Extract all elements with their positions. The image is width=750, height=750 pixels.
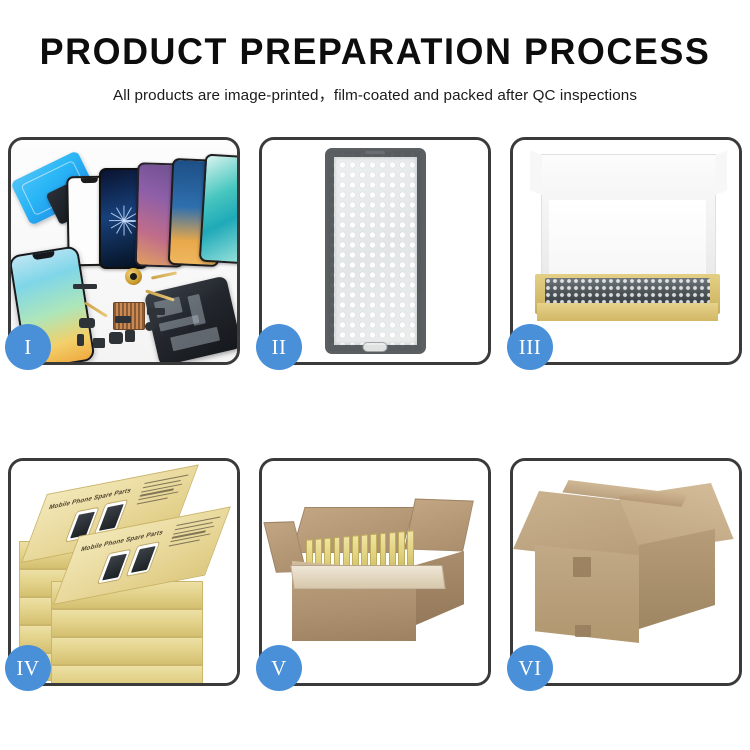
part-icon <box>125 330 135 342</box>
part-icon <box>93 338 105 348</box>
step-badge-3: III <box>507 324 553 370</box>
part-icon <box>115 316 131 323</box>
crack-lines-icon <box>109 205 139 235</box>
step-badge-1: I <box>5 324 51 370</box>
bubble-wrap-icon <box>329 151 422 351</box>
process-step-panel-3: III <box>510 137 742 365</box>
box-stack-group: Mobile Phone Spare Parts Mobile Phone Sp… <box>17 485 233 677</box>
sealed-carton-illustration <box>513 461 739 683</box>
box-spec-lines <box>167 516 220 549</box>
flex-cable-icon <box>84 301 108 317</box>
process-step-panel-1: I <box>8 137 240 365</box>
coil-icon <box>125 268 142 285</box>
process-step-panel-2: II <box>259 137 491 365</box>
box-phone-graphic <box>97 549 132 585</box>
flex-cable-icon <box>145 289 174 301</box>
part-icon <box>145 322 154 331</box>
box-spec-lines <box>135 474 188 507</box>
step-badge-2: II <box>256 324 302 370</box>
wrapped-screen-icon <box>545 278 710 303</box>
kraft-box-edge <box>51 637 203 665</box>
bubble-wrapped-screen-illustration <box>262 140 488 362</box>
part-icon <box>79 318 95 328</box>
step-badge-4: IV <box>5 645 51 691</box>
tape-tab-icon <box>575 625 591 637</box>
open-carton-illustration <box>262 461 488 683</box>
carton-flap-front <box>290 565 445 589</box>
carton-flap-right <box>404 499 474 552</box>
part-icon <box>77 334 84 346</box>
foam-box-illustration <box>513 140 739 362</box>
process-step-panel-5: V <box>259 458 491 686</box>
part-icon <box>73 284 97 289</box>
process-step-panel-4: Mobile Phone Spare Parts Mobile Phone Sp… <box>8 458 240 686</box>
home-button-icon <box>363 342 388 352</box>
process-step-panel-6: VI <box>510 458 742 686</box>
stacked-boxes-illustration: Mobile Phone Spare Parts Mobile Phone Sp… <box>11 461 237 683</box>
kraft-box-edge <box>51 609 203 637</box>
phone-parts-illustration <box>11 140 237 362</box>
process-step-grid: I II III <box>8 137 742 686</box>
teal-wave-phone-icon <box>199 154 237 265</box>
kraft-tray-front-icon <box>537 303 718 321</box>
earpiece-icon <box>365 151 385 154</box>
tape-tab-icon <box>573 557 591 577</box>
carton-side-face <box>639 529 715 629</box>
foam-lining-icon <box>549 200 706 278</box>
header: PRODUCT PREPARATION PROCESS All products… <box>0 0 750 105</box>
box-phone-graphic <box>126 541 161 577</box>
small-components-group <box>73 268 193 362</box>
flex-cable-icon <box>151 271 177 279</box>
step-badge-6: VI <box>507 645 553 691</box>
page-subtitle: All products are image-printed，film-coat… <box>0 83 750 105</box>
page-title: PRODUCT PREPARATION PROCESS <box>11 33 739 70</box>
part-icon <box>147 308 165 315</box>
screen-frame-icon <box>325 148 426 354</box>
step-badge-5: V <box>256 645 302 691</box>
part-icon <box>109 332 123 344</box>
kraft-box-edge <box>51 665 203 683</box>
